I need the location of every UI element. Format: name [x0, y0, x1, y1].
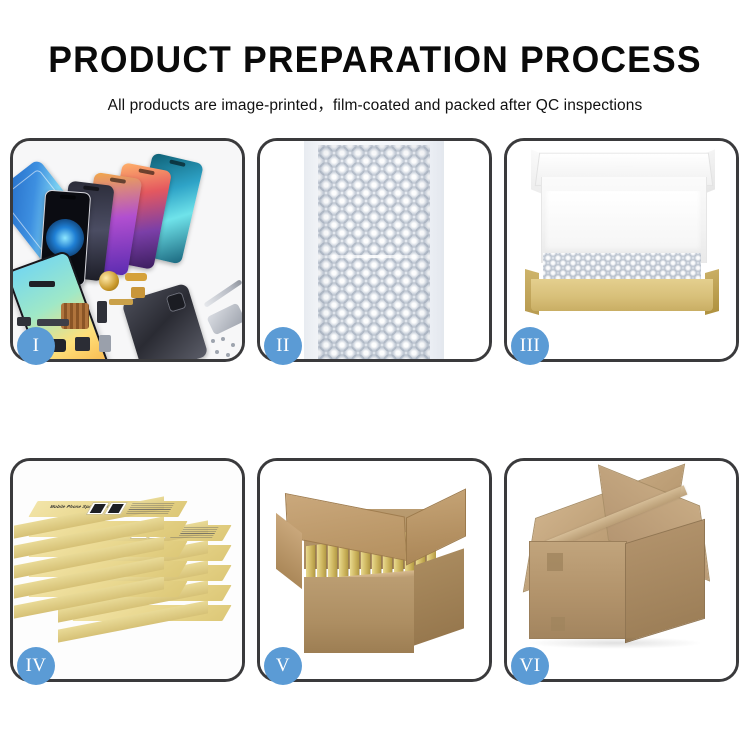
part-icon: [109, 299, 133, 305]
spec-lines-icon: [126, 503, 174, 514]
process-step-1[interactable]: I: [10, 138, 245, 362]
page-title: PRODUCT PREPARATION PROCESS: [15, 0, 735, 78]
header: PRODUCT PREPARATION PROCESS All products…: [0, 0, 750, 115]
process-step-3[interactable]: III: [504, 138, 739, 362]
tool-icon: [206, 303, 242, 336]
bubble-wrap-icon: [318, 145, 430, 359]
part-icon: [97, 301, 107, 323]
step-2-image: [260, 141, 489, 359]
part-icon: [125, 273, 147, 281]
part-icon: [99, 335, 111, 352]
tape-tab-icon: [551, 617, 565, 631]
page-subtitle: All products are image-printed，film-coat…: [0, 78, 750, 115]
process-step-grid: I II III: [10, 138, 740, 686]
step-5-image: [260, 461, 489, 679]
part-icon: [75, 337, 90, 351]
retail-box-top-left: Mobile Phone Spare Parts: [33, 501, 183, 523]
process-step-4[interactable]: Mobile Phone Spare Parts: [10, 458, 245, 682]
film-seam-icon: [318, 255, 430, 258]
carton-side-panel-icon: [414, 548, 464, 645]
step-3-image: [507, 141, 736, 359]
step-number-badge: II: [264, 327, 302, 365]
part-icon: [131, 287, 145, 298]
carton-front-panel-icon: [304, 577, 414, 653]
step-number-badge: IV: [17, 647, 55, 685]
step-number-badge: I: [17, 327, 55, 365]
step-number-badge: VI: [511, 647, 549, 685]
bubble-wrap-icon: [543, 253, 701, 281]
step-number-badge: III: [511, 327, 549, 365]
box-stack: Mobile Phone Spare Parts: [19, 473, 242, 673]
step-6-image: [507, 461, 736, 679]
process-step-5[interactable]: V: [257, 458, 492, 682]
foam-insert-icon: [545, 191, 701, 253]
carton-front-panel-icon: [529, 541, 627, 639]
copper-coil-icon: [99, 271, 119, 291]
box-front-icon: [531, 279, 713, 311]
retail-box-label: Mobile Phone Spare Parts: [46, 503, 177, 515]
process-step-6[interactable]: VI: [504, 458, 739, 682]
part-icon: [17, 317, 31, 326]
part-icon: [37, 319, 69, 326]
tape-tab-icon: [547, 553, 563, 571]
step-4-image: Mobile Phone Spare Parts: [13, 461, 242, 679]
part-icon: [29, 281, 55, 287]
step-number-badge: V: [264, 647, 302, 685]
step-1-image: [13, 141, 242, 359]
screws-icon: [209, 337, 239, 359]
process-step-2[interactable]: II: [257, 138, 492, 362]
drop-shadow: [527, 637, 703, 649]
product-preparation-infographic: PRODUCT PREPARATION PROCESS All products…: [0, 0, 750, 750]
